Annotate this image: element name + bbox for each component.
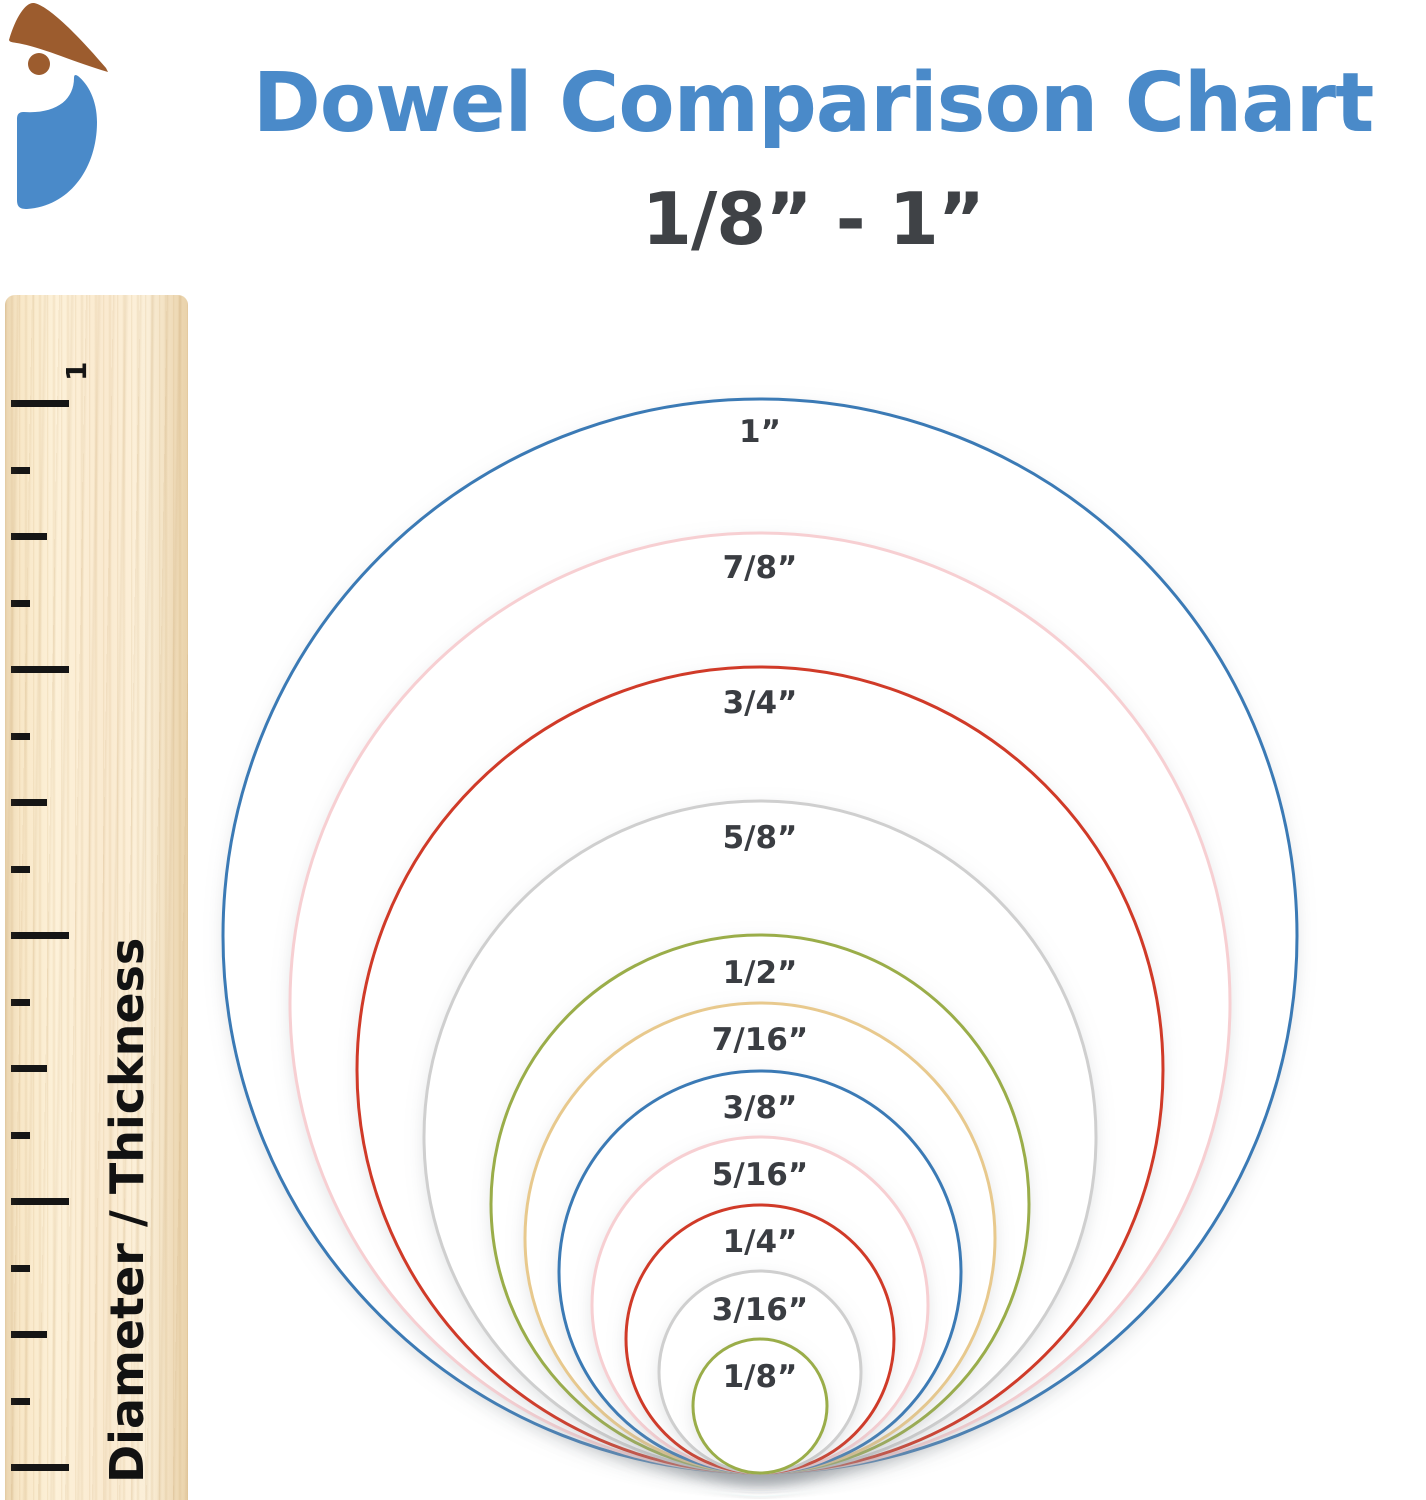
dowel-size-label: 7/16” bbox=[712, 1022, 808, 1058]
dowel-size-label: 1/8” bbox=[723, 1359, 798, 1395]
dowel-size-label: 1/2” bbox=[723, 955, 798, 991]
dowel-size-label: 7/8” bbox=[723, 550, 798, 586]
dowel-size-label: 1/4” bbox=[723, 1224, 798, 1260]
dowel-size-label: 3/8” bbox=[723, 1090, 798, 1126]
dowel-circle-chart bbox=[0, 0, 1426, 1500]
dowel-size-label: 3/4” bbox=[723, 685, 798, 721]
dowel-size-label: 1” bbox=[739, 414, 781, 450]
dowel-size-label: 5/16” bbox=[712, 1157, 808, 1193]
dowel-size-label: 3/16” bbox=[712, 1292, 808, 1328]
dowel-size-label: 5/8” bbox=[723, 820, 798, 856]
